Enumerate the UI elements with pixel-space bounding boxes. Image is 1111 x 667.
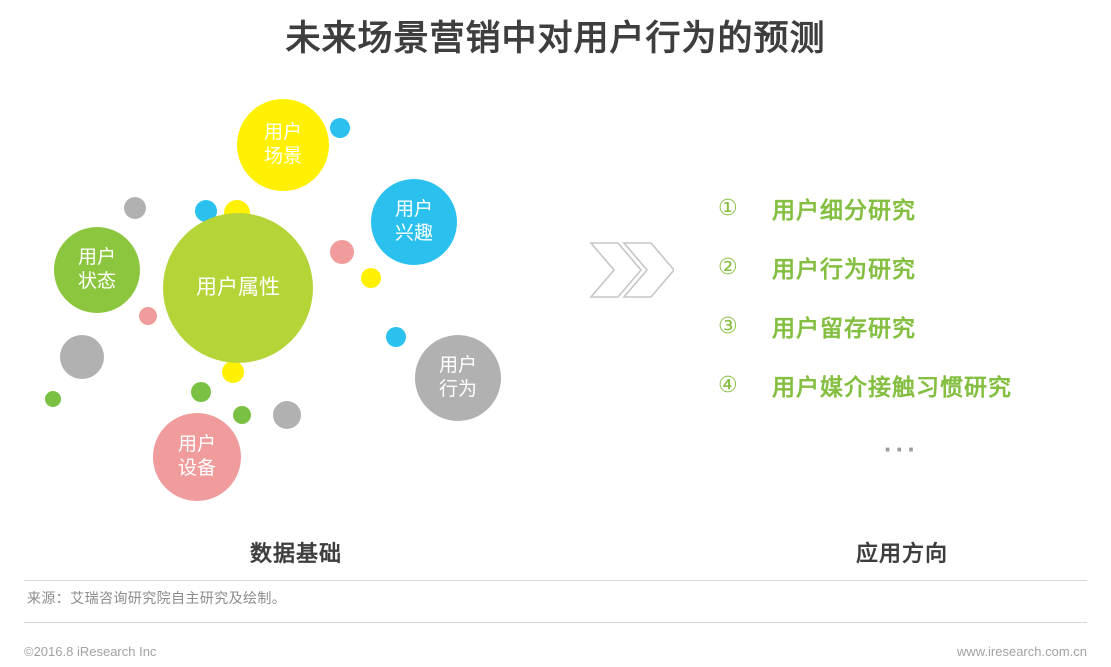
footer-website: www.iresearch.com.cn (957, 644, 1087, 659)
dot-yellow-right (361, 268, 381, 288)
application-item-label: 用户细分研究 (772, 191, 916, 225)
dot-cyan-right (386, 327, 406, 347)
dot-pink-right (330, 240, 354, 264)
caption-application-area: 应用方向 (856, 536, 948, 568)
bubble-label: 用户属性 (196, 275, 280, 301)
arrow-chevrons-icon (588, 240, 674, 300)
footer-copyright: ©2016.8 iResearch Inc (24, 644, 156, 659)
application-item-label: 用户行为研究 (772, 250, 916, 284)
bubble-cluster-diagram: 用户属性用户场景用户兴趣用户状态用户行为用户设备 (0, 85, 560, 515)
dot-yellow-low (222, 361, 244, 383)
bubble-label: 场景 (264, 145, 302, 169)
bubble-label: 用户 (264, 121, 302, 145)
bubble-label: 用户 (178, 433, 216, 457)
caption-data-foundation: 数据基础 (250, 536, 342, 568)
source-note: 来源：艾瑞咨询研究院自主研究及绘制。 (27, 588, 286, 608)
application-item-number: ④ (718, 374, 772, 396)
bubble-label: 设备 (178, 457, 216, 481)
dot-pink-left (139, 307, 157, 325)
bubble-user-device[interactable]: 用户设备 (153, 413, 241, 501)
bubble-user-interest[interactable]: 用户兴趣 (371, 179, 457, 265)
bubble-user-attribute[interactable]: 用户属性 (163, 213, 313, 363)
bubble-label: 用户 (78, 246, 116, 270)
application-item-2[interactable]: ②用户行为研究 (718, 237, 1108, 296)
dot-green-small1 (45, 391, 61, 407)
divider-bottom (24, 622, 1087, 623)
bubble-user-behavior[interactable]: 用户行为 (415, 335, 501, 421)
application-item-number: ② (718, 256, 772, 278)
application-item-number: ① (718, 197, 772, 219)
page-title: 未来场景营销中对用户行为的预测 (0, 16, 1111, 62)
dot-gray-left (60, 335, 104, 379)
bubble-user-scene[interactable]: 用户场景 (237, 99, 329, 191)
infographic-slide: 未来场景营销中对用户行为的预测 用户属性用户场景用户兴趣用户状态用户行为用户设备… (0, 0, 1111, 667)
application-item-4[interactable]: ④用户媒介接触习惯研究 (718, 355, 1108, 414)
bubble-label: 行为 (439, 378, 477, 402)
application-item-label: 用户媒介接触习惯研究 (772, 368, 1012, 402)
dot-gray-bottom (273, 401, 301, 429)
application-item-number: ③ (718, 315, 772, 337)
application-item-3[interactable]: ③用户留存研究 (718, 296, 1108, 355)
bubble-label: 兴趣 (395, 222, 433, 246)
divider-top (24, 580, 1087, 581)
dot-cyan-top (330, 118, 350, 138)
bubble-label: 用户 (395, 198, 433, 222)
application-item-label: 用户留存研究 (772, 309, 916, 343)
application-list-ellipsis: ··· (884, 436, 1108, 462)
application-item-1[interactable]: ①用户细分研究 (718, 178, 1108, 237)
bubble-label: 用户 (439, 354, 477, 378)
bubble-label: 状态 (78, 270, 116, 294)
dot-green-small2 (191, 382, 211, 402)
dot-green-small3 (233, 406, 251, 424)
bubble-user-state[interactable]: 用户状态 (54, 227, 140, 313)
application-directions-list: ①用户细分研究②用户行为研究③用户留存研究④用户媒介接触习惯研究··· (718, 178, 1108, 462)
dot-gray-upper (124, 197, 146, 219)
